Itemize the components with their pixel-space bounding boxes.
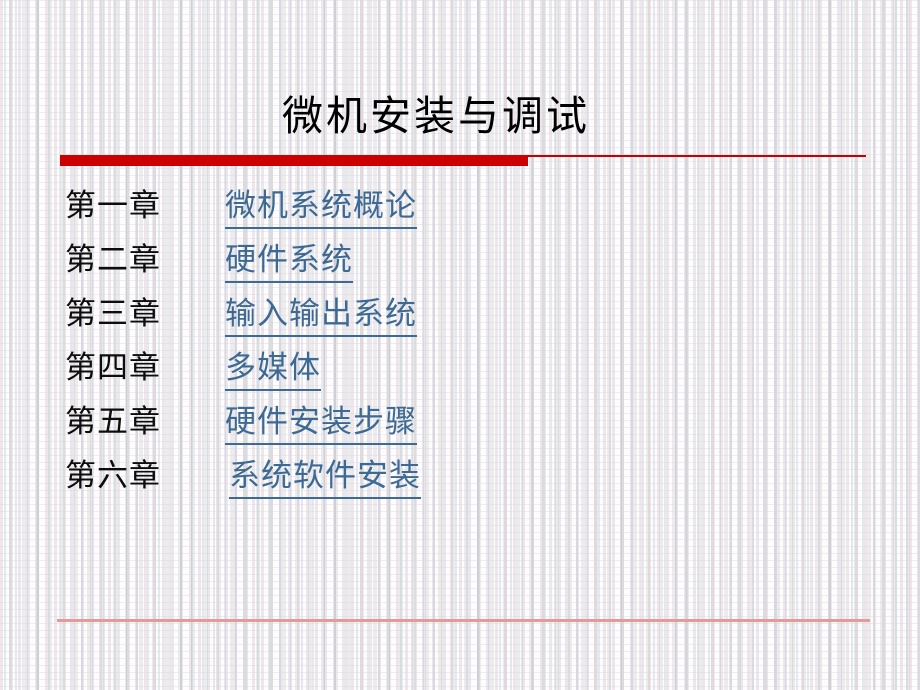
slide-title: 微机安装与调试 [0,92,920,140]
list-item: 第五章 硬件安装步骤 [0,401,920,455]
chapter-link[interactable]: 多媒体 [225,347,321,391]
chapter-label: 第六章 [65,455,161,497]
chapter-label: 第一章 [65,185,161,227]
chapter-link[interactable]: 系统软件安装 [229,455,421,499]
presentation-slide: 微机安装与调试 第一章 微机系统概论 第二章 硬件系统 第三章 输入输出系统 第… [0,0,920,690]
chapter-link[interactable]: 微机系统概论 [225,185,417,229]
chapter-label: 第二章 [65,239,161,281]
title-divider-accent-bar [60,155,528,166]
list-item: 第六章 系统软件安装 [0,455,920,509]
chapter-link[interactable]: 硬件系统 [225,239,353,283]
table-of-contents: 第一章 微机系统概论 第二章 硬件系统 第三章 输入输出系统 第四章 多媒体 第… [0,185,920,509]
footer-divider-rule [57,619,870,622]
chapter-label: 第五章 [65,401,161,443]
list-item: 第二章 硬件系统 [0,239,920,293]
chapter-label: 第四章 [65,347,161,389]
chapter-link[interactable]: 硬件安装步骤 [225,401,417,445]
list-item: 第三章 输入输出系统 [0,293,920,347]
slide-content: 微机安装与调试 第一章 微机系统概论 第二章 硬件系统 第三章 输入输出系统 第… [0,0,920,690]
chapter-link[interactable]: 输入输出系统 [225,293,417,337]
chapter-label: 第三章 [65,293,161,335]
list-item: 第一章 微机系统概论 [0,185,920,239]
list-item: 第四章 多媒体 [0,347,920,401]
